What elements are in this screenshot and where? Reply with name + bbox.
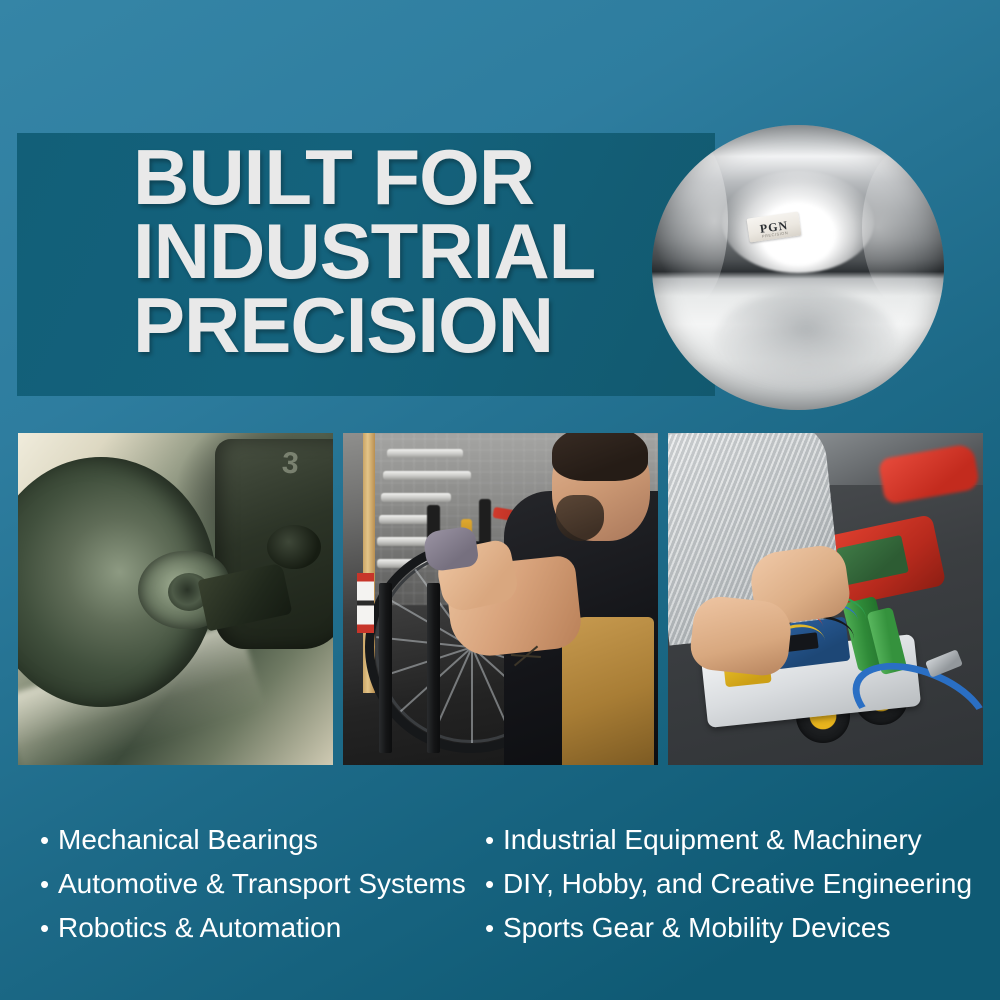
cnc-badge-number: 3 [281,446,300,481]
bullet-dot-icon: • [485,914,503,942]
list-item: • Automotive & Transport Systems [40,869,466,913]
bullet-dot-icon: • [485,826,503,854]
photo-gallery: 3 [18,433,983,765]
page-title: BUILT FOR INDUSTRIAL PRECISION [133,140,713,362]
cnc-turret-bore [267,525,321,569]
bullet-dot-icon: • [485,870,503,898]
mechanic-apron [562,617,654,765]
photo-panel-cnc-lathe: 3 [18,433,333,765]
ball-lower-reflection [716,290,897,387]
mechanic-beard [556,495,604,541]
truing-stand-post [427,583,440,753]
wrench-icon [381,493,451,502]
photo-panel-bike-mechanic [343,433,658,765]
photo-panel-robot-build [668,433,983,765]
mechanic-glove [422,526,479,573]
list-item: • Robotics & Automation [40,913,466,957]
bullet-dot-icon: • [40,870,58,898]
list-item-label: DIY, Hobby, and Creative Engineering [503,869,972,899]
wrench-icon [383,471,471,480]
builder-hand [688,594,793,678]
applications-list: • Mechanical Bearings • Automotive & Tra… [0,825,1000,975]
applications-right-column: • Industrial Equipment & Machinery • DIY… [485,825,972,957]
headline-line-1: BUILT FOR [133,140,713,214]
truing-stand-post [379,583,392,753]
list-item-label: Sports Gear & Mobility Devices [503,913,890,943]
bullet-dot-icon: • [40,826,58,854]
wall-tags [357,573,374,633]
wrench-icon [387,449,463,458]
cnc-scene: 3 [18,433,333,765]
chrome-ball-sphere [652,125,944,410]
bike-workshop-scene [343,433,658,765]
ball-highlight-right [862,148,944,308]
list-item-label: Automotive & Transport Systems [58,869,466,899]
applications-left-column: • Mechanical Bearings • Automotive & Tra… [40,825,466,957]
bullet-dot-icon: • [40,914,58,942]
mechanic-hair [552,433,648,481]
headline-line-3: PRECISION [133,288,713,362]
list-item-label: Robotics & Automation [58,913,341,943]
list-item-label: Industrial Equipment & Machinery [503,825,922,855]
marketing-banner-canvas: BUILT FOR INDUSTRIAL PRECISION PGN PRECI… [0,0,1000,1000]
list-item-label: Mechanical Bearings [58,825,318,855]
headline-line-2: INDUSTRIAL [133,214,713,288]
robot-build-scene [668,433,983,765]
ball-highlight-left [652,136,728,307]
list-item: • Sports Gear & Mobility Devices [485,913,972,957]
list-item: • DIY, Hobby, and Creative Engineering [485,869,972,913]
list-item: • Industrial Equipment & Machinery [485,825,972,869]
product-image-chrome-ball: PGN PRECISION [652,125,944,410]
list-item: • Mechanical Bearings [40,825,466,869]
